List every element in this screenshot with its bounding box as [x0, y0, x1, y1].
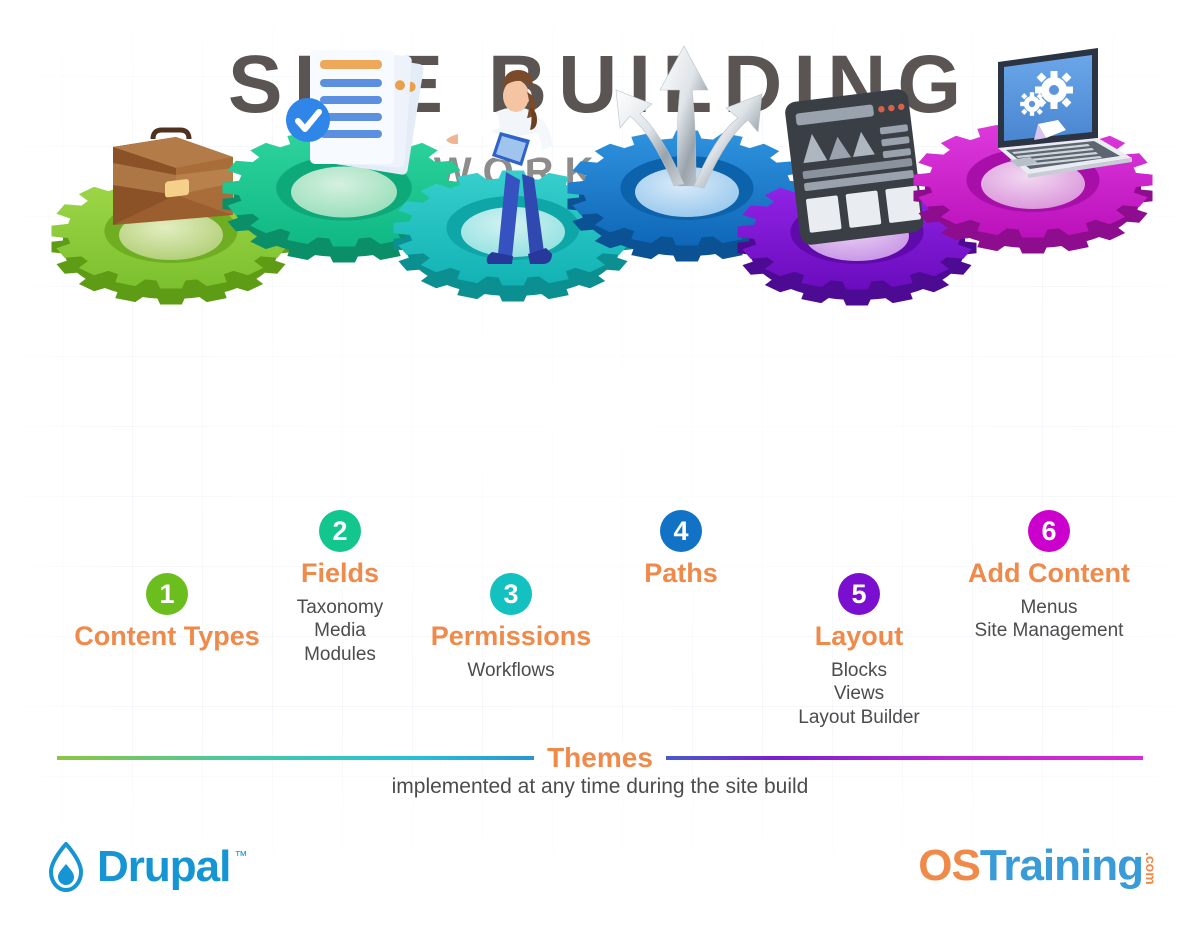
step-6-items: MenusSite Management: [938, 596, 1160, 644]
ostraining-training: Training: [980, 844, 1143, 888]
step-6: 6 Add Content MenusSite Management: [938, 510, 1160, 643]
step-3-title: Permissions: [400, 622, 622, 652]
themes-section: Themes implemented at any time during th…: [0, 745, 1200, 799]
gear-stage: [0, 0, 1200, 300]
step-2-badge: 2: [319, 510, 361, 552]
themes-divider-row: Themes: [0, 745, 1200, 771]
step-sub-item: Menus: [938, 596, 1160, 620]
step-5: 5 Layout BlocksViewsLayout Builder: [748, 573, 970, 730]
step-6-title: Add Content: [938, 559, 1160, 589]
gear-step-6: [908, 50, 1158, 280]
step-3-items: Workflows: [400, 659, 622, 683]
themes-label: Themes: [534, 742, 666, 774]
step-5-badge: 5: [838, 573, 880, 615]
laptop-gears-icon: [998, 48, 1132, 178]
wireframe-icon: [784, 88, 925, 246]
step-5-title: Layout: [748, 622, 970, 652]
step-3-badge: 3: [490, 573, 532, 615]
step-5-items: BlocksViewsLayout Builder: [748, 659, 970, 730]
drupal-trademark: ™: [234, 848, 247, 863]
drupal-logo: Drupal ™: [44, 842, 247, 892]
ostraining-os: OS: [918, 844, 980, 888]
step-sub-item: Blocks: [748, 659, 970, 683]
ostraining-com: .com: [1144, 852, 1158, 885]
step-1-badge: 1: [146, 573, 188, 615]
step-sub-item: Layout Builder: [748, 706, 970, 730]
briefcase-icon: [113, 130, 233, 225]
step-6-badge: 6: [1028, 510, 1070, 552]
themes-description: implemented at any time during the site …: [0, 775, 1200, 799]
ostraining-logo: OS Training .com: [918, 844, 1158, 888]
step-sub-item: Workflows: [400, 659, 622, 683]
drupal-droplet-icon: [44, 842, 88, 892]
step-sub-item: Site Management: [938, 619, 1160, 643]
drupal-wordmark: Drupal: [97, 845, 230, 889]
step-sub-item: Views: [748, 682, 970, 706]
step-4-badge: 4: [660, 510, 702, 552]
